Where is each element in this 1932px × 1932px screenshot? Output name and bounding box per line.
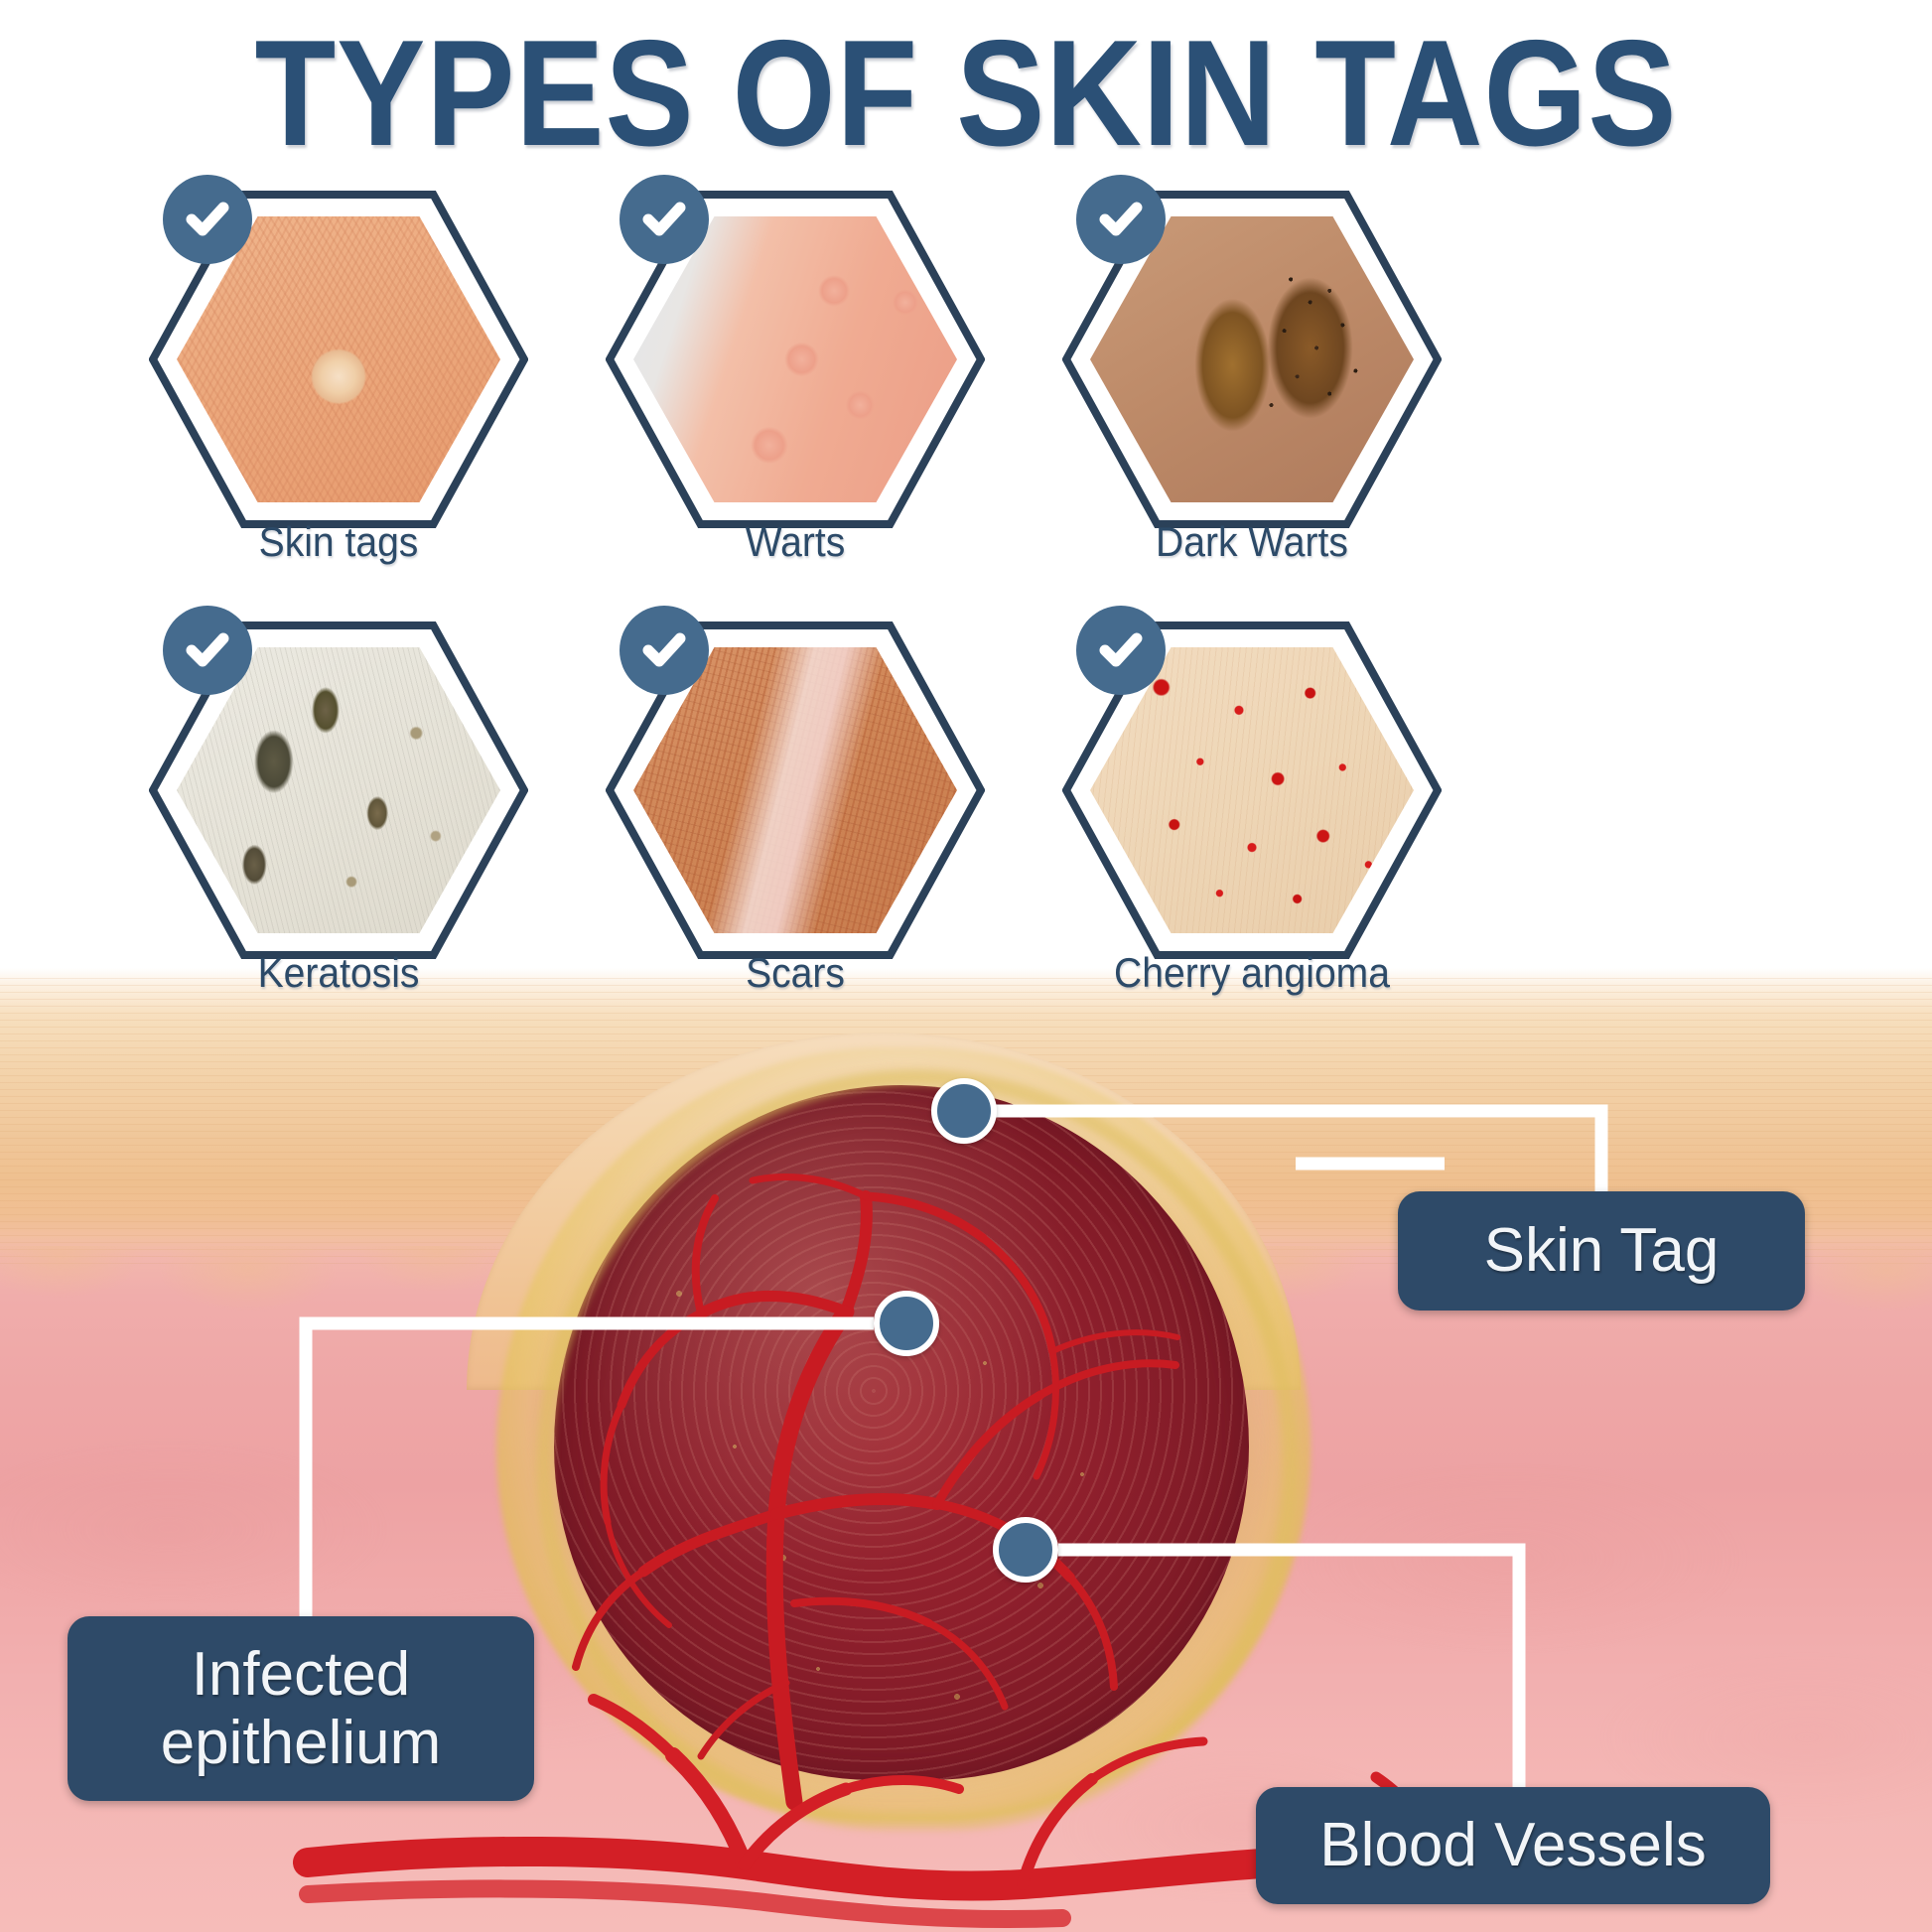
callout-infected-epithelium-line1: Infected — [192, 1640, 411, 1709]
marker-dot-skin-tag[interactable] — [931, 1078, 997, 1144]
callout-blood-vessels[interactable]: Blood Vessels — [1256, 1787, 1770, 1904]
marker-dot-blood-vessels[interactable] — [993, 1517, 1058, 1583]
leader-blood-vessels — [1058, 1550, 1519, 1787]
leader-skin-tag — [993, 1111, 1601, 1191]
callout-infected-epithelium[interactable]: Infected epithelium — [68, 1616, 534, 1801]
callout-infected-epithelium-line2: epithelium — [161, 1709, 442, 1777]
leader-infected-epithelium — [306, 1323, 874, 1616]
callout-skin-tag[interactable]: Skin Tag — [1398, 1191, 1805, 1311]
marker-dot-infected-epithelium[interactable] — [874, 1291, 939, 1356]
infographic-canvas: Skin Tag Infected epithelium Blood Vesse… — [0, 0, 1932, 1932]
